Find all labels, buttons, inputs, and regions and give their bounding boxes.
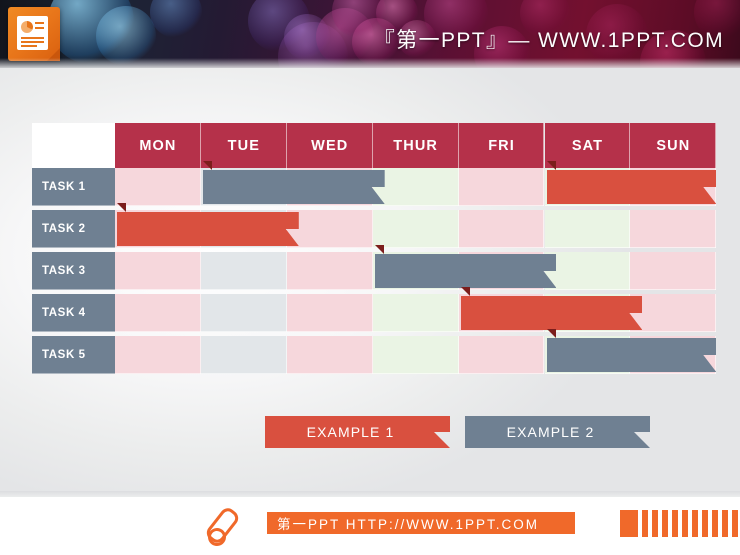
gantt-cell[interactable] [630, 252, 716, 290]
gantt-cell[interactable] [115, 336, 201, 374]
gantt-header-row: MONTUEWEDTHURFRISATSUN [32, 123, 716, 168]
gantt-cell[interactable] [287, 252, 373, 290]
gantt-row-label-task-1: TASK 1 [32, 168, 115, 206]
legend-item-label: EXAMPLE 1 [307, 424, 395, 440]
gantt-bar-fold [203, 161, 212, 170]
legend-item-2[interactable]: EXAMPLE 2 [465, 416, 650, 448]
footer-stripe [642, 510, 648, 537]
gantt-bar-red-row1[interactable] [547, 170, 717, 204]
footer-url-bar: 第一PPT HTTP://WWW.1PPT.COM [267, 512, 575, 534]
gantt-chart: MONTUEWEDTHURFRISATSUN TASK 1TASK 2TASK … [32, 123, 716, 381]
gantt-cell[interactable] [287, 210, 373, 248]
gantt-row-label-task-2: TASK 2 [32, 210, 115, 248]
gantt-column-header-tue: TUE [201, 123, 287, 168]
gantt-cell[interactable] [459, 210, 545, 248]
gantt-cell[interactable] [373, 168, 459, 206]
gantt-column-header-sun: SUN [630, 123, 716, 168]
gantt-bar-fold [547, 161, 556, 170]
gantt-bar-gray-row3[interactable] [375, 254, 557, 288]
banner-title: 『第一PPT』— WWW.1PPT.COM [374, 24, 724, 54]
gantt-cell[interactable] [630, 294, 716, 332]
gantt-cell[interactable] [287, 336, 373, 374]
logo-line [21, 41, 44, 43]
gantt-bar-fold [375, 245, 384, 254]
gantt-column-header-thur: THUR [373, 123, 459, 168]
gantt-cell[interactable] [201, 294, 287, 332]
gantt-column-header-sat: SAT [545, 123, 631, 168]
gantt-cell[interactable] [115, 168, 201, 206]
footer-stripe [702, 510, 708, 537]
footer-stripe [620, 510, 638, 537]
gantt-column-header-mon: MON [115, 123, 201, 168]
gantt-cell[interactable] [459, 168, 545, 206]
banner-fade [0, 58, 740, 68]
gantt-cell[interactable] [115, 294, 201, 332]
footer-stripe [712, 510, 718, 537]
legend-item-label: EXAMPLE 2 [507, 424, 595, 440]
logo-document-shape [17, 16, 48, 50]
footer-stripe [652, 510, 658, 537]
gantt-cell[interactable] [545, 210, 631, 248]
footer-stripe [662, 510, 668, 537]
gantt-row-label-task-3: TASK 3 [32, 252, 115, 290]
gantt-bar-fold [461, 287, 470, 296]
logo-line [35, 27, 44, 29]
gantt-cell[interactable] [630, 210, 716, 248]
legend-item-1[interactable]: EXAMPLE 1 [265, 416, 450, 448]
gantt-cell[interactable] [201, 336, 287, 374]
slide-canvas: 『第一PPT』— WWW.1PPT.COM MONTUEWEDTHURFRISA… [0, 0, 740, 555]
gantt-row-label-task-4: TASK 4 [32, 294, 115, 332]
gantt-cell[interactable] [545, 252, 631, 290]
footer-stripes [620, 510, 738, 537]
gantt-cell[interactable] [373, 294, 459, 332]
gantt-cell[interactable] [373, 210, 459, 248]
legend: EXAMPLE 1EXAMPLE 2 [265, 416, 655, 448]
footer-stripe [672, 510, 678, 537]
gantt-column-header-wed: WED [287, 123, 373, 168]
bokeh-decoration [48, 0, 134, 64]
powerpoint-document-icon [8, 7, 60, 61]
header-banner: 『第一PPT』— WWW.1PPT.COM [0, 0, 740, 68]
bokeh-decoration [248, 0, 310, 52]
bokeh-decoration [284, 14, 330, 60]
gantt-cell[interactable] [201, 252, 287, 290]
gantt-corner-cell [32, 123, 115, 168]
footer-stripe [732, 510, 738, 537]
gantt-bar-gray-row1[interactable] [203, 170, 385, 204]
bokeh-decoration [150, 0, 202, 38]
footer-stripe [682, 510, 688, 537]
gantt-bar-red-row4[interactable] [461, 296, 643, 330]
gantt-cell[interactable] [115, 252, 201, 290]
bokeh-decoration [96, 6, 156, 66]
footer-divider [0, 491, 740, 497]
gantt-bar-fold [117, 203, 126, 212]
footer-stripe [722, 510, 728, 537]
gantt-cell[interactable] [287, 294, 373, 332]
gantt-bar-fold [547, 329, 556, 338]
logo-line [21, 37, 44, 39]
logo-line [21, 45, 37, 47]
gantt-bar-red-row2[interactable] [117, 212, 299, 246]
gantt-column-header-fri: FRI [459, 123, 545, 168]
logo-pie-chart [21, 21, 33, 33]
gantt-cell[interactable] [459, 336, 545, 374]
pen-icon [204, 508, 240, 542]
gantt-row-label-task-5: TASK 5 [32, 336, 115, 374]
footer-stripe [692, 510, 698, 537]
gantt-bar-gray-row5[interactable] [547, 338, 717, 372]
logo-line [35, 22, 44, 24]
gantt-cell[interactable] [373, 336, 459, 374]
